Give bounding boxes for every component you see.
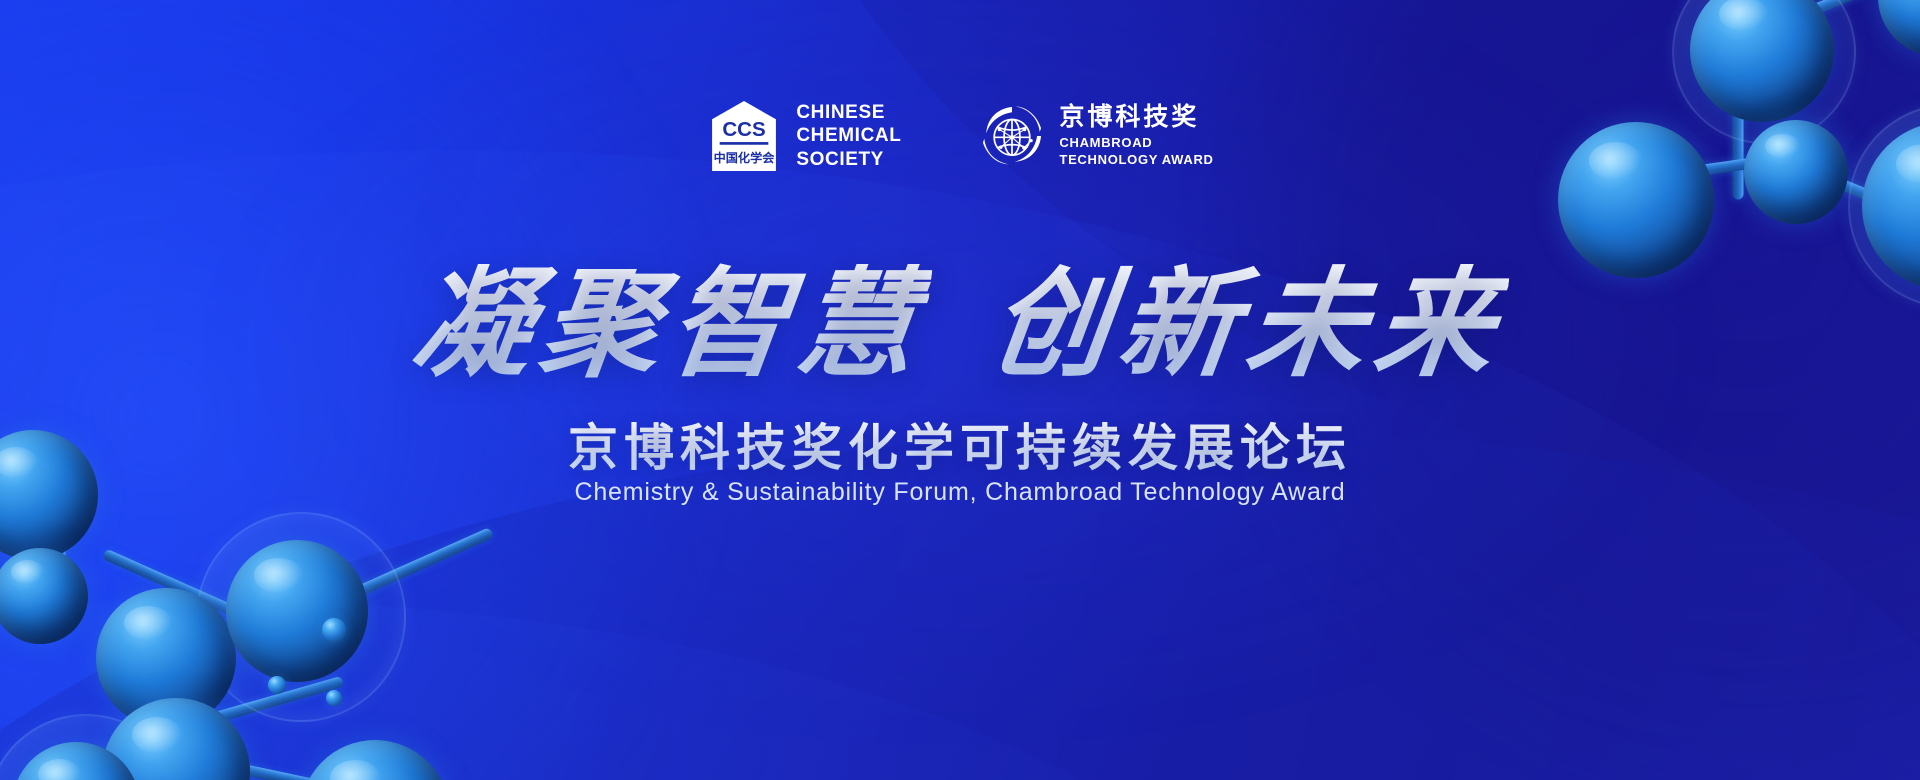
logo-chambroad: 京博科技奖 CHAMBROAD TECHNOLOGY AWARD (979, 103, 1213, 169)
headline-calligraphy: 凝聚智慧 创新未来 (0, 228, 1920, 399)
subtitle-english: Chemistry & Sustainability Forum, Chambr… (0, 478, 1920, 507)
chambroad-name-cn: 京博科技奖 (1059, 104, 1213, 132)
chambroad-name-en-line1: CHAMBROAD (1059, 135, 1213, 152)
molecule-bond (139, 742, 337, 780)
molecule-bond (158, 676, 344, 739)
molecule-atom (12, 742, 140, 780)
molecule-atom (0, 548, 88, 644)
ccs-name-line2: CHEMICAL (796, 124, 901, 147)
molecule-bond (102, 548, 298, 643)
chambroad-name-en-line2: TECHNOLOGY AWARD (1059, 152, 1213, 169)
event-banner: CCS 中国化学会 CHINESE CHEMICAL SOCIETY (0, 0, 1920, 780)
molecule-atom (102, 698, 250, 780)
molecule-atom (300, 740, 450, 780)
ccs-name-line1: CHINESE (796, 101, 901, 124)
molecule-halo (196, 512, 406, 722)
chambroad-name-en: CHAMBROAD TECHNOLOGY AWARD (1059, 135, 1213, 168)
ccs-shield-icon: CCS 中国化学会 (706, 98, 782, 174)
ccs-wordmark: CHINESE CHEMICAL SOCIETY (796, 101, 901, 171)
ccs-mark-abbr: CCS (723, 118, 766, 141)
ccs-name-line3: SOCIETY (796, 148, 901, 171)
molecule-dot (322, 618, 346, 642)
headline-part2: 创新未来 (983, 228, 1516, 399)
headline-part1: 凝聚智慧 (404, 228, 937, 399)
background-wave-bottom-left (0, 600, 1300, 780)
logo-ccs: CCS 中国化学会 CHINESE CHEMICAL SOCIETY (706, 98, 901, 174)
logo-row: CCS 中国化学会 CHINESE CHEMICAL SOCIETY (0, 98, 1920, 174)
molecule-bond (1788, 0, 1920, 25)
chambroad-globe-icon (979, 103, 1045, 169)
subtitle-chinese: 京博科技奖化学可持续发展论坛 (0, 408, 1920, 480)
molecule-bond (135, 631, 237, 780)
ccs-mark-cn: 中国化学会 (714, 150, 776, 165)
molecule-dot (268, 676, 286, 694)
chambroad-wordmark: 京博科技奖 CHAMBROAD TECHNOLOGY AWARD (1059, 104, 1213, 169)
molecule-dot (326, 690, 342, 706)
molecule-atom (226, 540, 368, 682)
molecule-atom (1878, 0, 1920, 56)
molecule-atom (96, 588, 236, 728)
molecule-halo (0, 714, 186, 780)
molecule-bond (298, 527, 494, 622)
